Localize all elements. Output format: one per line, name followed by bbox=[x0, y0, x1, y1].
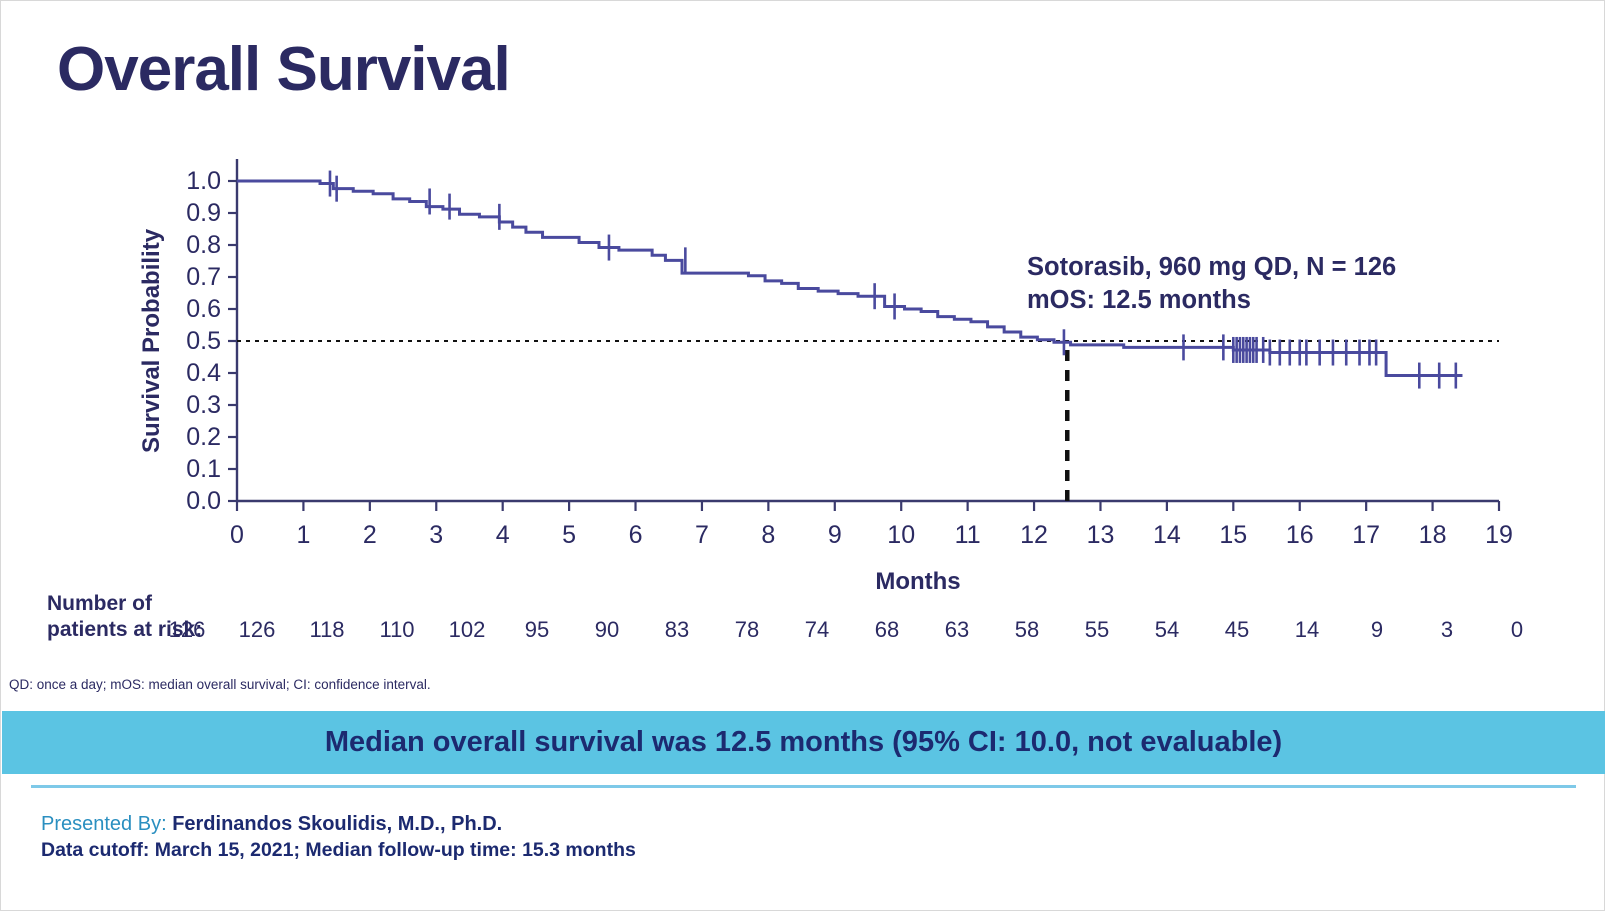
y-tick-label: 0.7 bbox=[186, 263, 221, 291]
data-cutoff-line: Data cutoff: March 15, 2021; Median foll… bbox=[41, 839, 636, 862]
x-tick-label: 11 bbox=[955, 521, 981, 549]
x-tick-label: 17 bbox=[1352, 521, 1380, 549]
at-risk-count: 3 bbox=[1441, 617, 1453, 643]
at-risk-count: 90 bbox=[595, 617, 619, 643]
at-risk-row: 1261261181101029590837874686358555445149… bbox=[187, 617, 1517, 647]
y-tick-label: 0.4 bbox=[186, 359, 221, 387]
at-risk-count: 110 bbox=[379, 617, 414, 643]
at-risk-count: 63 bbox=[945, 617, 969, 643]
at-risk-count: 55 bbox=[1085, 617, 1109, 643]
x-tick-label: 14 bbox=[1153, 521, 1181, 549]
at-risk-count: 78 bbox=[735, 617, 759, 643]
x-tick-label: 2 bbox=[363, 521, 377, 549]
y-tick-labels: 0.00.10.20.30.40.50.60.70.80.91.0 bbox=[186, 167, 237, 515]
y-tick-label: 0.2 bbox=[186, 423, 221, 451]
at-risk-count: 0 bbox=[1511, 617, 1523, 643]
at-risk-count: 102 bbox=[449, 617, 486, 643]
key-message-banner: Median overall survival was 12.5 months … bbox=[2, 711, 1605, 774]
x-tick-label: 16 bbox=[1286, 521, 1314, 549]
y-tick-label: 0.8 bbox=[186, 231, 221, 259]
x-tick-label: 19 bbox=[1485, 521, 1513, 549]
y-axis-title: Survival Probability bbox=[138, 228, 165, 453]
x-tick-label: 4 bbox=[496, 521, 510, 549]
at-risk-count: 68 bbox=[875, 617, 899, 643]
chart-axes bbox=[237, 159, 1499, 501]
x-tick-label: 5 bbox=[562, 521, 576, 549]
kaplan-meier-plot: 0.00.10.20.30.40.50.60.70.80.91.0 012345… bbox=[1, 141, 1605, 661]
at-risk-count: 83 bbox=[665, 617, 689, 643]
x-axis-title: Months bbox=[875, 568, 960, 595]
reference-lines bbox=[237, 341, 1499, 501]
at-risk-count: 14 bbox=[1295, 617, 1319, 643]
x-tick-label: 18 bbox=[1419, 521, 1447, 549]
y-tick-label: 0.5 bbox=[186, 327, 221, 355]
x-tick-label: 1 bbox=[296, 521, 310, 549]
survival-chart: 0.00.10.20.30.40.50.60.70.80.91.0 012345… bbox=[1, 141, 1605, 661]
divider-rule bbox=[31, 785, 1576, 788]
at-risk-count: 126 bbox=[169, 617, 206, 643]
at-risk-count: 45 bbox=[1225, 617, 1249, 643]
curve-annotation: Sotorasib, 960 mg QD, N = 126 mOS: 12.5 … bbox=[1027, 251, 1396, 316]
x-tick-label: 0 bbox=[230, 521, 244, 549]
y-tick-label: 0.6 bbox=[186, 295, 221, 323]
at-risk-count: 95 bbox=[525, 617, 549, 643]
x-tick-label: 10 bbox=[887, 521, 915, 549]
x-tick-label: 13 bbox=[1087, 521, 1115, 549]
y-tick-label: 0.0 bbox=[186, 487, 221, 515]
at-risk-count: 9 bbox=[1371, 617, 1383, 643]
presenter-line: Presented By: Ferdinandos Skoulidis, M.D… bbox=[41, 809, 502, 840]
x-tick-label: 15 bbox=[1219, 521, 1247, 549]
at-risk-count: 74 bbox=[805, 617, 829, 643]
slide-root: Overall Survival 0.00.10.20.30.40.50.60.… bbox=[0, 0, 1605, 911]
page-title: Overall Survival bbox=[57, 39, 510, 101]
at-risk-count: 58 bbox=[1015, 617, 1039, 643]
key-message-text: Median overall survival was 12.5 months … bbox=[325, 726, 1282, 759]
x-tick-label: 12 bbox=[1020, 521, 1048, 549]
y-tick-label: 0.9 bbox=[186, 199, 221, 227]
x-tick-label: 9 bbox=[828, 521, 842, 549]
x-tick-label: 6 bbox=[629, 521, 643, 549]
presenter-name: Ferdinandos Skoulidis, M.D., Ph.D. bbox=[172, 813, 502, 835]
x-tick-label: 8 bbox=[761, 521, 775, 549]
y-tick-label: 0.3 bbox=[186, 391, 221, 419]
footnote: QD: once a day; mOS: median overall surv… bbox=[9, 677, 431, 692]
y-tick-label: 0.1 bbox=[186, 455, 221, 483]
y-tick-label: 1.0 bbox=[186, 167, 221, 195]
at-risk-count: 126 bbox=[239, 617, 276, 643]
x-tick-label: 3 bbox=[429, 521, 443, 549]
x-tick-label: 7 bbox=[695, 521, 709, 549]
x-tick-labels: 012345678910111213141516171819 bbox=[230, 501, 1513, 549]
presented-by-label: Presented By: bbox=[41, 813, 167, 835]
at-risk-count: 118 bbox=[309, 617, 344, 643]
at-risk-count: 54 bbox=[1155, 617, 1179, 643]
